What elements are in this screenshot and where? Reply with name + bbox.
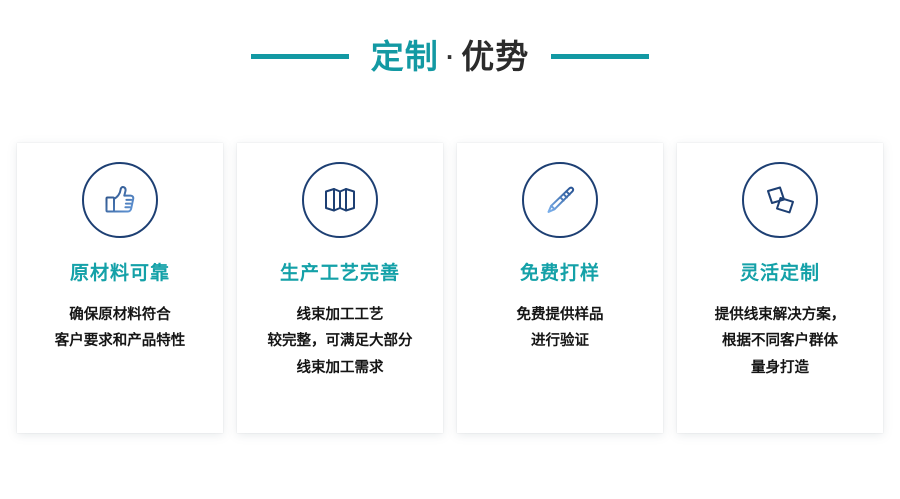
card-title: 生产工艺完善 [280, 262, 400, 285]
title-sub: 优势 [461, 40, 529, 73]
title-rule-left [251, 54, 349, 59]
section-title: 定制 · 优势 [0, 28, 900, 84]
card-title: 免费打样 [520, 262, 600, 285]
title-separator: · [439, 47, 462, 67]
thumbs-up-icon [100, 180, 140, 220]
card-description: 提供线束解决方案， 根据不同客户群体 量身打造 [707, 302, 854, 381]
card-title: 灵活定制 [740, 262, 820, 285]
title-rule-right [551, 54, 649, 59]
feature-card[interactable]: 生产工艺完善 线束加工工艺 较完整，可满足大部分 线束加工需求 [237, 143, 443, 433]
feature-card[interactable]: 灵活定制 提供线束解决方案， 根据不同客户群体 量身打造 [677, 143, 883, 433]
card-description-line: 线束加工需求 [268, 355, 413, 381]
pencil-icon [540, 180, 580, 220]
card-title: 原材料可靠 [70, 262, 170, 285]
icon-circle [522, 162, 598, 238]
card-description-line: 确保原材料符合 [55, 302, 186, 328]
icon-circle [82, 162, 158, 238]
card-description-line: 根据不同客户群体 [715, 328, 846, 354]
card-description-line: 免费提供样品 [517, 302, 604, 328]
feature-card[interactable]: 原材料可靠 确保原材料符合 客户要求和产品特性 [17, 143, 223, 433]
overlapping-cards-icon [760, 180, 800, 220]
folded-map-icon [320, 180, 360, 220]
icon-circle [302, 162, 378, 238]
title-text: 定制 · 优势 [371, 40, 530, 73]
icon-circle [742, 162, 818, 238]
title-main: 定制 [371, 40, 439, 73]
card-description-line: 量身打造 [715, 355, 846, 381]
card-description: 线束加工工艺 较完整，可满足大部分 线束加工需求 [260, 302, 421, 381]
feature-card-list: 原材料可靠 确保原材料符合 客户要求和产品特性 生产工艺完善 线束加工工艺 [17, 143, 883, 433]
card-description-line: 线束加工工艺 [268, 302, 413, 328]
card-description-line: 较完整，可满足大部分 [268, 328, 413, 354]
card-description-line: 客户要求和产品特性 [55, 328, 186, 354]
card-description-line: 提供线束解决方案， [715, 302, 846, 328]
card-description: 确保原材料符合 客户要求和产品特性 [47, 302, 194, 355]
feature-card[interactable]: 免费打样 免费提供样品 进行验证 [457, 143, 663, 433]
card-description: 免费提供样品 进行验证 [509, 302, 612, 355]
card-description-line: 进行验证 [517, 328, 604, 354]
